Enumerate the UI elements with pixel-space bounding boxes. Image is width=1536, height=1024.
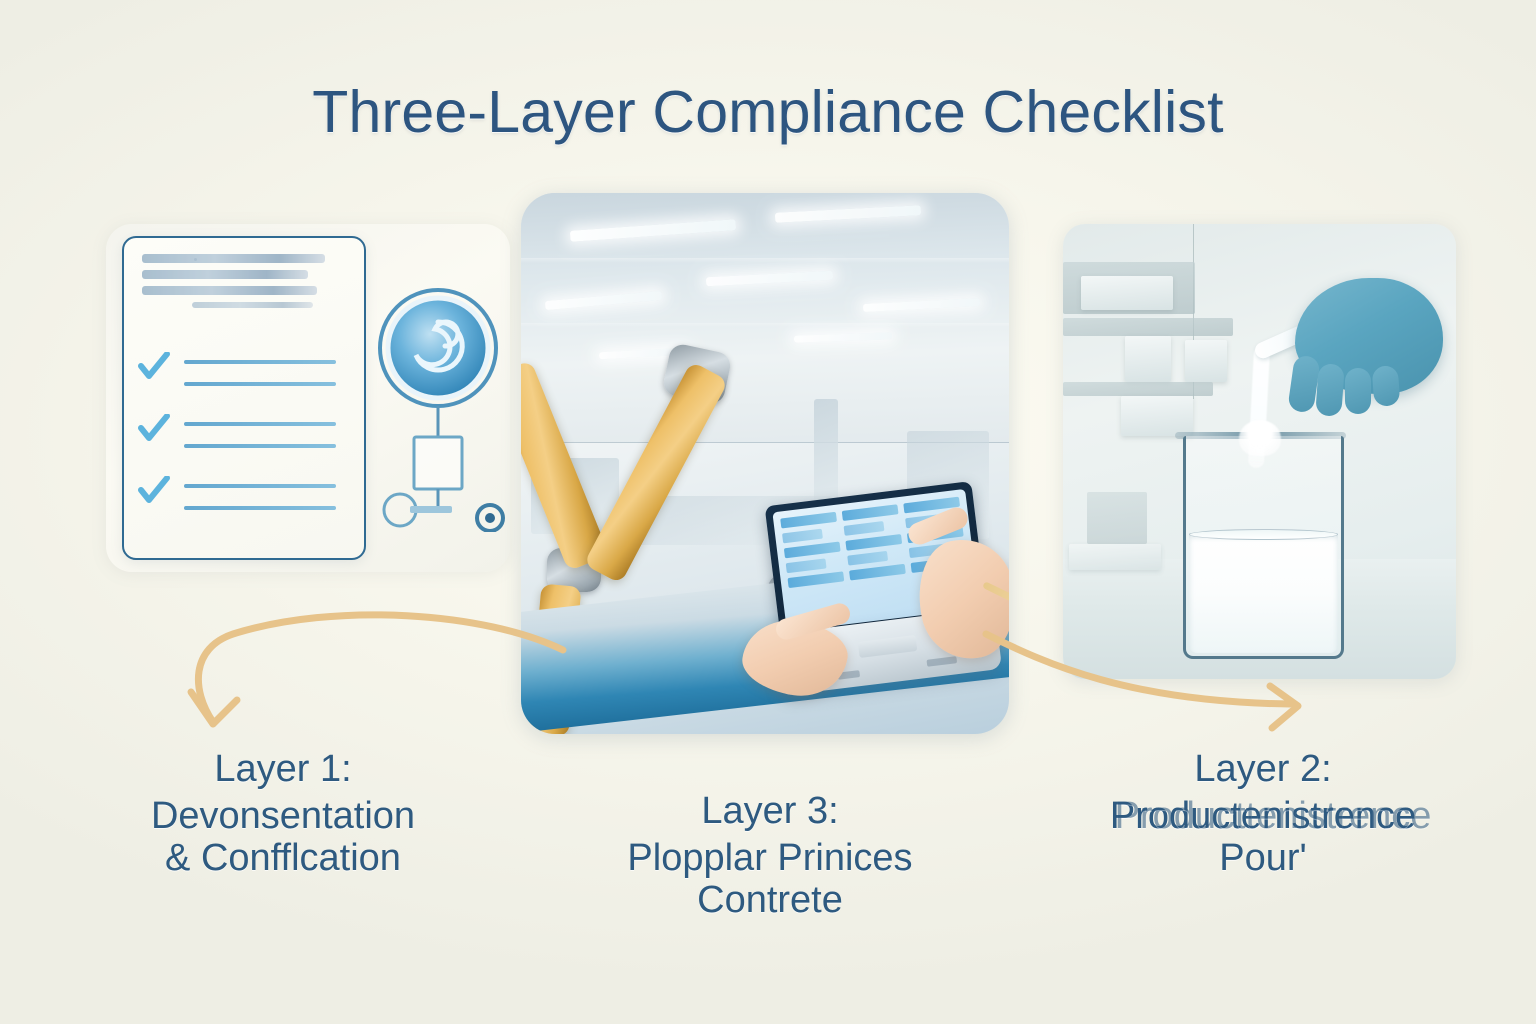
shelf-board (1063, 382, 1213, 396)
ceiling-beam (521, 258, 1009, 263)
data-cell (780, 512, 837, 529)
check-icon (138, 476, 170, 506)
caption-layer-2: Layer 2: Productenistrence Producttenist… (1018, 748, 1508, 880)
doc-header-line (142, 286, 317, 295)
laptop-trackpad (858, 635, 918, 658)
caption-layer-3-line-2: Contrete (560, 879, 980, 922)
beaker (1183, 436, 1344, 659)
caption-layer-2-heading: Layer 2: (1018, 748, 1508, 791)
shelf-board (1063, 318, 1233, 336)
data-column (842, 504, 911, 616)
laptop-key (926, 656, 957, 667)
data-cell (788, 571, 845, 588)
checklist-line (184, 506, 336, 510)
checklist-document (122, 236, 366, 560)
checklist-item (136, 470, 354, 532)
bench-equipment (1087, 492, 1147, 544)
doc-header-line (142, 254, 325, 263)
data-cell (845, 534, 902, 551)
caption-layer-3-line-1: Plopplar Prinices (560, 837, 980, 880)
document-header-text (142, 254, 350, 315)
glove-finger (1315, 363, 1345, 417)
shelf-box (1125, 336, 1171, 382)
caption-layer-2-line-1-overlay: Producttenistrence (1028, 795, 1518, 838)
certification-seal-icon (368, 282, 508, 532)
data-cell (847, 551, 888, 566)
panel-documentation-certification (106, 224, 510, 572)
glove-finger (1345, 368, 1371, 414)
checklist-line (184, 382, 336, 386)
data-cell (784, 542, 841, 559)
diagram-canvas: Three-Layer Compliance Checklist (0, 0, 1536, 1024)
checklist-item (136, 408, 354, 470)
caption-layer-1-heading: Layer 1: (38, 748, 528, 791)
pour-splash (1239, 420, 1281, 456)
checklist-items (136, 346, 354, 532)
shelf-box (1185, 340, 1227, 382)
ceiling-beam (521, 323, 1009, 327)
data-cell (849, 564, 906, 581)
page-title: Three-Layer Compliance Checklist (0, 78, 1536, 146)
data-cell (842, 504, 899, 521)
data-cell (844, 521, 885, 536)
data-cell (782, 529, 823, 544)
caption-layer-1-line-2: & Confflcation (38, 837, 528, 880)
caption-layer-3: Layer 3: Plopplar Prinices Contrete (560, 790, 980, 922)
shelf-box (1121, 396, 1193, 436)
caption-layer-3-heading: Layer 3: (560, 790, 980, 833)
checklist-line (184, 360, 336, 364)
doc-header-line (142, 270, 308, 279)
checklist-line (184, 484, 336, 488)
check-icon (138, 352, 170, 382)
check-icon (138, 414, 170, 444)
caption-layer-1: Layer 1: Devonsentation & Confflcation (38, 748, 528, 880)
caption-layer-2-line-2: Pour' (1018, 837, 1508, 880)
panel-lab-sampling (1063, 224, 1456, 679)
shelf-box (1081, 276, 1173, 310)
caption-layer-1-line-1: Devonsentation (38, 795, 528, 838)
panel-production-line (521, 193, 1009, 734)
data-cell (786, 558, 827, 573)
checklist-item (136, 346, 354, 408)
checklist-line (184, 444, 336, 448)
glove-finger (1372, 365, 1401, 407)
caption-layer-2-line-1: Productenistrence Producttenistrence (1018, 795, 1508, 838)
bench-equipment (1069, 544, 1161, 570)
checklist-line (184, 422, 336, 426)
doc-subheader-line (192, 302, 313, 308)
beaker-liquid (1189, 533, 1338, 653)
